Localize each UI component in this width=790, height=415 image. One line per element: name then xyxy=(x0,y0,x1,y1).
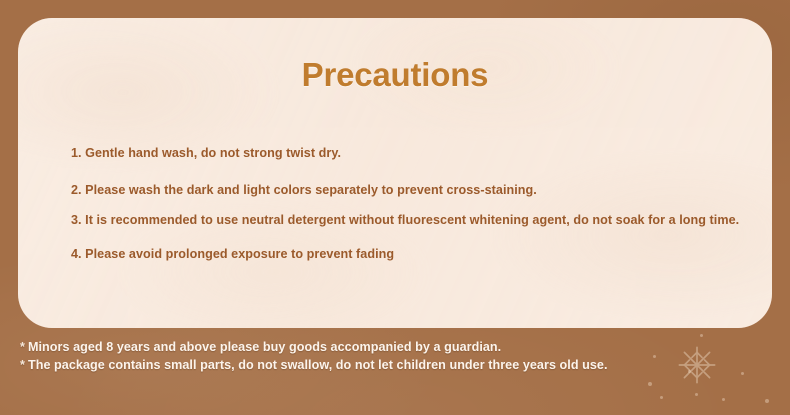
footer-note-text: The package contains small parts, do not… xyxy=(28,358,608,372)
sparkle-dot xyxy=(660,396,663,399)
footer-note-text: Minors aged 8 years and above please buy… xyxy=(28,340,501,354)
page-title: Precautions xyxy=(18,56,772,94)
sparkle-dot xyxy=(648,382,652,386)
list-item: 2. Please wash the dark and light colors… xyxy=(71,182,742,199)
sparkle-dot xyxy=(653,355,656,358)
sparkle-dot xyxy=(765,399,769,403)
list-item: 1. Gentle hand wash, do not strong twist… xyxy=(71,145,742,162)
snowflake-icon xyxy=(676,344,718,386)
footer-note: *Minors aged 8 years and above please bu… xyxy=(20,339,640,357)
footer-notes: *Minors aged 8 years and above please bu… xyxy=(20,339,640,375)
list-item: 4. Please avoid prolonged exposure to pr… xyxy=(71,246,742,263)
asterisk-icon: * xyxy=(20,340,25,354)
asterisk-icon: * xyxy=(20,358,25,372)
sparkle-dot xyxy=(695,393,698,396)
precaution-list: 1. Gentle hand wash, do not strong twist… xyxy=(71,145,742,263)
sparkle-dot xyxy=(722,398,725,401)
list-item: 3. It is recommended to use neutral dete… xyxy=(71,212,742,229)
sparkle-dot xyxy=(741,372,744,375)
sparkle-dot xyxy=(688,370,691,373)
precautions-card: Precautions 1. Gentle hand wash, do not … xyxy=(18,18,772,328)
sparkle-dot xyxy=(700,334,703,337)
footer-note: *The package contains small parts, do no… xyxy=(20,357,640,375)
